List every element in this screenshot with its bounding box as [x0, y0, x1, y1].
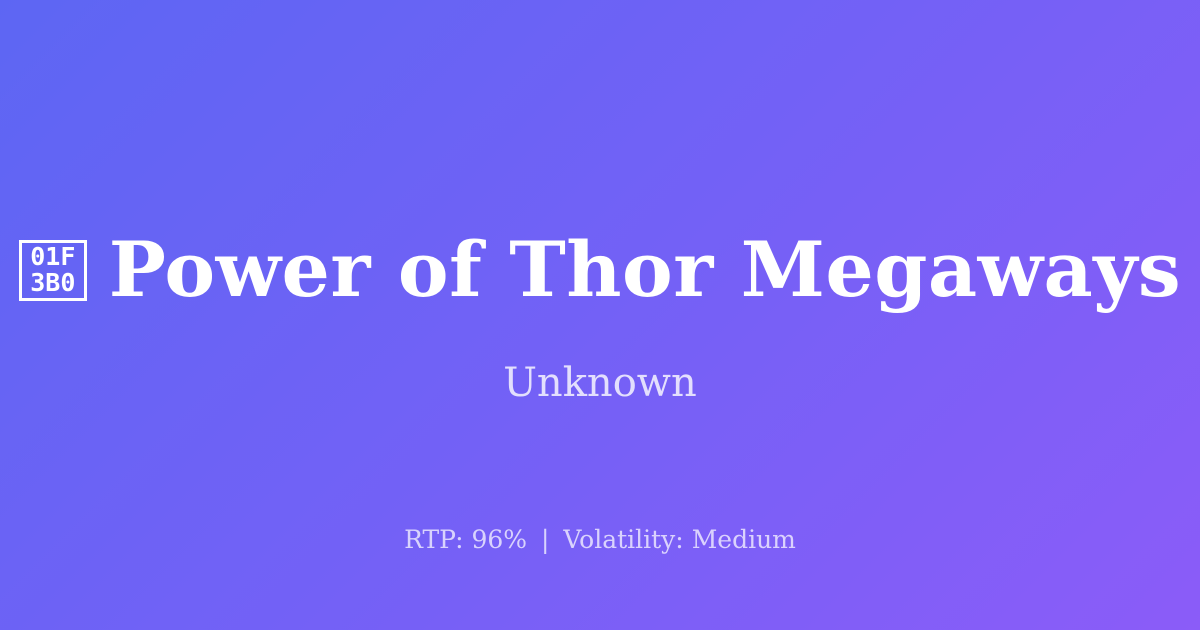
- page-title: Power of Thor Megaways: [109, 232, 1181, 308]
- og-card: 01F 3B0 Power of Thor Megaways Unknown R…: [0, 0, 1200, 630]
- volatility-value: Medium: [692, 525, 796, 554]
- title-row: 01F 3B0 Power of Thor Megaways: [0, 232, 1200, 308]
- rtp-value: 96%: [471, 525, 527, 554]
- slot-machine-icon-hex-top: 01F: [30, 244, 75, 270]
- slot-machine-icon-hex-bottom: 3B0: [30, 270, 75, 296]
- volatility-label: Volatility:: [563, 525, 683, 554]
- slot-machine-icon: 01F 3B0: [19, 240, 87, 301]
- meta-separator: |: [535, 525, 555, 554]
- page-subtitle: Unknown: [0, 363, 1200, 403]
- game-meta: RTP: 96% | Volatility: Medium: [0, 527, 1200, 552]
- rtp-label: RTP:: [404, 525, 463, 554]
